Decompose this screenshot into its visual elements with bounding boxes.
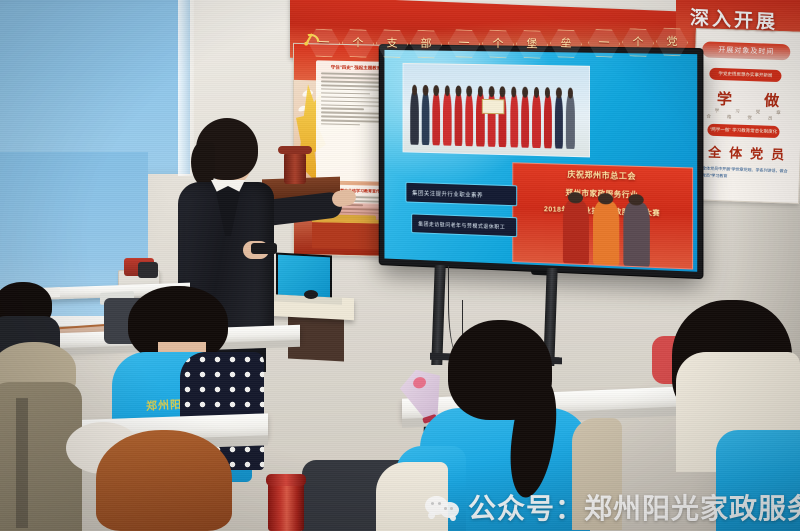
presenter-hair-side (191, 142, 215, 186)
list-item (96, 430, 232, 531)
window-blind-edge (178, 0, 194, 176)
banner-hex-5: 一 (448, 29, 480, 58)
list-item (448, 320, 552, 432)
wechat-logo-icon (425, 494, 459, 521)
presentation-tv: 庆祝郑州市总工会 郑州市家政服务行业 2018年度职业技能家政服务员大赛 集团关… (380, 45, 703, 278)
banner-hex-9: 一 (588, 29, 620, 58)
banner-hex-4: 部 (410, 29, 442, 58)
red-vase (284, 150, 306, 184)
right-wall-poster: 开展对象及时间 学党史悟思想办实事开新局 学 做 学习党章 合格党员 "两学一做… (690, 28, 800, 204)
dark-bag-on-wall (138, 262, 158, 278)
right-poster-pill-bottom: "两学一做" 学习教育常态化制度化 (707, 124, 779, 139)
right-poster-pill-top: 学党史悟思想办实事开新局 (709, 68, 781, 83)
slide-stage-photo: 庆祝郑州市总工会 郑州市家政服务行业 2018年度职业技能家政服务员大赛 (513, 162, 693, 269)
slide-group-photo (402, 63, 589, 158)
presenter-remote[interactable] (251, 243, 277, 254)
right-poster-band-label: 开展对象及时间 (702, 41, 791, 60)
slide-bullet-1: 集团关注提升行业职业素养 (405, 182, 517, 207)
thermos-cap (266, 474, 306, 486)
banner-hex-1: 一 (308, 28, 340, 57)
banner-hex-11: 党 (656, 27, 688, 56)
watermark: 公众号：郑州阳光家政服务公司 (425, 487, 800, 527)
banner-hex-8: 垒 (550, 29, 582, 58)
right-poster-footer-note: 在全体党员中开展"学党章党规、学系列讲话，做合格党员"学习教育 (698, 165, 788, 182)
right-poster-footer-big: 全体党员 (692, 141, 800, 164)
watermark-text: 公众号：郑州阳光家政服务公司 (468, 487, 800, 527)
banner-hex-10: 个 (622, 28, 654, 57)
classroom-scene-photo: 一 个 支 部 一 个 堡 垒 一 个 党 深入开展 守住"四史" 强起主题教育… (0, 0, 800, 531)
banner-hex-7: 堡 (516, 30, 548, 59)
banner-hex-2: 个 (342, 29, 374, 58)
banner-hex-6: 个 (482, 29, 514, 58)
computer-mouse[interactable] (304, 290, 318, 299)
red-vase-top (278, 146, 312, 154)
window-blind-upper (0, 0, 190, 174)
right-poster-sub-chars: 学习党章 合格党员 (694, 107, 800, 123)
banner-hex-3: 支 (376, 29, 408, 58)
stage-banner-line-1: 庆祝郑州市总工会 (514, 167, 692, 184)
tv-screen: 庆祝郑州市总工会 郑州市家政服务行业 2018年度职业技能家政服务员大赛 集团关… (384, 50, 697, 272)
award-certificate (482, 99, 504, 115)
